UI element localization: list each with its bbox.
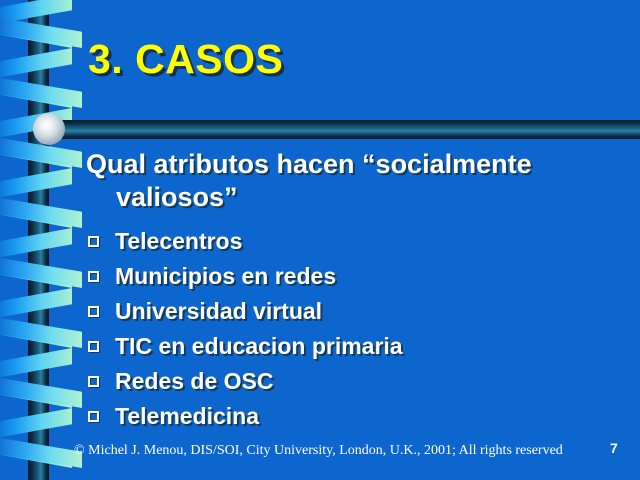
slide-page-number: 7 <box>610 440 618 456</box>
title-divider-bar <box>48 120 640 139</box>
ribbon-band <box>0 228 72 258</box>
helix-ribbon-decoration <box>0 0 82 480</box>
lead-line-1: Qual atributos hacen “socialmente <box>86 149 532 179</box>
divider-orb-icon <box>33 113 65 145</box>
ribbon-band <box>0 168 72 198</box>
list-item: Telecentros <box>88 224 568 259</box>
square-bullet-icon <box>88 306 99 317</box>
list-item: Telemedicina <box>88 399 568 434</box>
list-item: Universidad virtual <box>88 294 568 329</box>
lead-line-2: valiosos” <box>86 181 586 214</box>
square-bullet-icon <box>88 411 99 422</box>
list-item-label: TIC en educacion primaria <box>115 333 403 360</box>
list-item-label: Universidad virtual <box>115 298 322 325</box>
list-item: TIC en educacion primaria <box>88 329 568 364</box>
list-item: Municipios en redes <box>88 259 568 294</box>
list-item-label: Redes de OSC <box>115 368 274 395</box>
list-item-label: Telecentros <box>115 228 242 255</box>
list-item: Redes de OSC <box>88 364 568 399</box>
slide-title: 3. CASOS <box>88 36 283 83</box>
square-bullet-icon <box>88 341 99 352</box>
square-bullet-icon <box>88 271 99 282</box>
slide-lead-text: Qual atributos hacen “socialmente valios… <box>86 148 586 214</box>
ribbon-band <box>0 288 72 318</box>
list-item-label: Telemedicina <box>115 403 259 430</box>
square-bullet-icon <box>88 236 99 247</box>
ribbon-band <box>0 48 72 78</box>
ribbon-band <box>0 348 72 378</box>
presentation-slide: 3. CASOS Qual atributos hacen “socialmen… <box>0 0 640 480</box>
bullet-list: Telecentros Municipios en redes Universi… <box>88 224 568 434</box>
ribbon-band <box>0 408 72 438</box>
list-item-label: Municipios en redes <box>115 263 336 290</box>
square-bullet-icon <box>88 376 99 387</box>
footer-copyright: © Michel J. Menou, DIS/SOI, City Univers… <box>74 443 563 459</box>
